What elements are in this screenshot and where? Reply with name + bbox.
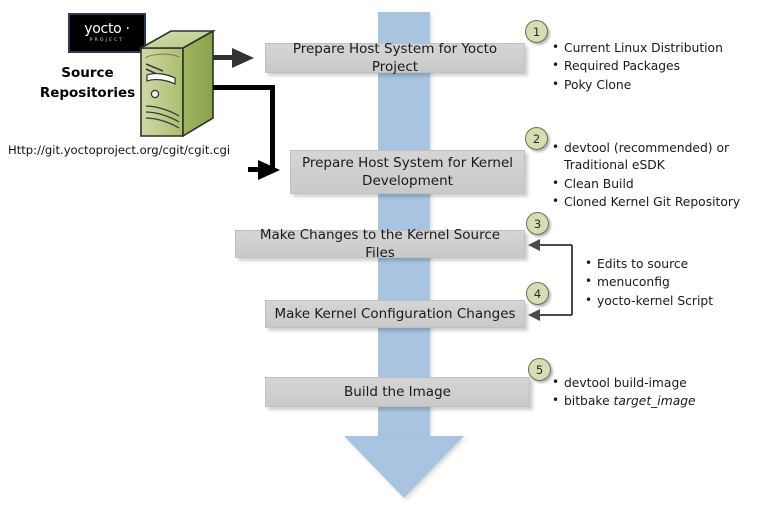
note-item: Edits to source [585,256,765,273]
step-number-3: 3 [526,212,549,235]
note-item: bitbake target_image [552,393,762,410]
notes-steps34: Edits to source menuconfig yocto-kernel … [585,256,765,311]
note-command-italic: target_image [614,394,696,408]
connector-server-to-step2-vertical [270,85,275,172]
note-item: menuconfig [585,274,765,291]
note-item: Cloned Kernel Git Repository [552,194,762,211]
notes-step2: devtool (recommended) or Traditional eSD… [552,140,762,213]
arrowhead-icon-step1 [232,48,254,68]
flow-arrow-head-icon [344,436,464,498]
yocto-logo-wordmark: yocto · [84,22,129,36]
note-item: Required Packages [552,58,762,75]
arrowhead-icon-step3 [528,239,540,251]
note-item: Current Linux Distribution [552,40,762,57]
note-item: devtool build-image [552,375,762,392]
arrowhead-icon-step4 [528,309,540,321]
bracket-vertical-steps34 [571,245,573,315]
note-item: devtool (recommended) or Traditional eSD… [552,140,762,175]
step-number-2: 2 [525,127,548,150]
process-box-step5[interactable]: Build the Image [265,377,530,407]
process-box-step1[interactable]: Prepare Host System for Yocto Project [265,43,525,73]
yocto-project-logo: yocto · PROJECT [68,13,146,53]
process-box-step3[interactable]: Make Changes to the Kernel Source Files [235,230,525,258]
bracket-arm-step3 [540,244,572,246]
notes-step1: Current Linux Distribution Required Pack… [552,40,762,95]
process-box-step4[interactable]: Make Kernel Configuration Changes [265,300,525,328]
source-repositories-label: Source Repositories [30,64,145,103]
note-item: yocto-kernel Script [585,293,765,310]
note-command-prefix: bitbake [564,394,614,408]
step-number-5: 5 [528,358,551,381]
arrowhead-icon-step2 [258,160,280,180]
bracket-arm-step4 [540,314,572,316]
notes-step5: devtool build-image bitbake target_image [552,375,762,412]
source-repository-url: Http://git.yoctoproject.org/cgit/cgit.cg… [8,143,230,157]
note-item: Poky Clone [552,77,762,94]
diagram-canvas: yocto · PROJECT Source Repositories [0,0,769,517]
step-number-4: 4 [526,282,549,305]
process-box-step2[interactable]: Prepare Host System for Kernel Developme… [290,150,525,194]
note-item: Clean Build [552,176,762,193]
connector-server-to-step2-horizontal [213,85,275,90]
step-number-1: 1 [525,20,548,43]
yocto-logo-subtext: PROJECT [90,39,125,44]
server-tower-icon [137,28,217,140]
